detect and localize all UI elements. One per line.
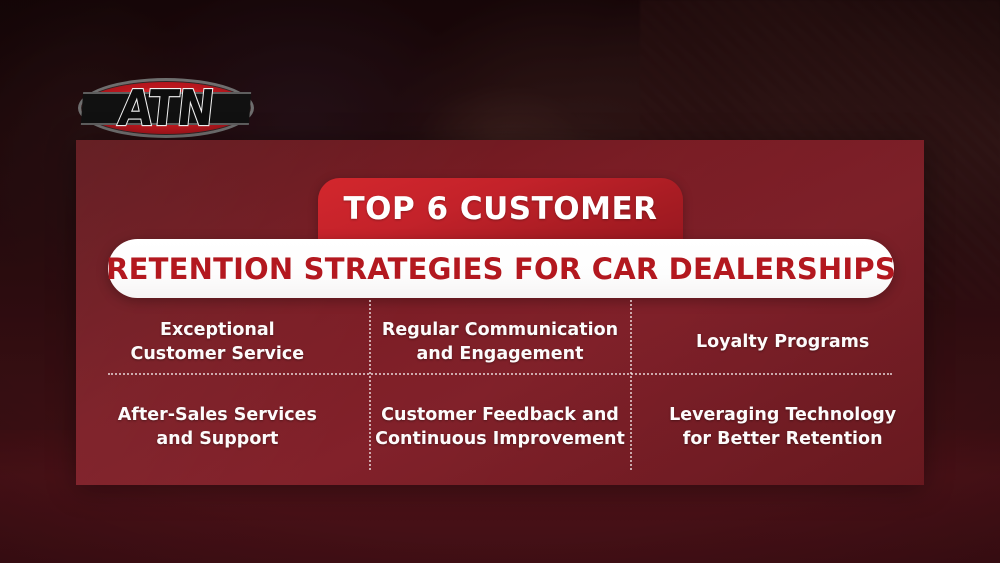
title-pill: TOP 6 CUSTOMER — [318, 178, 683, 240]
strategy-label-1-line2: Customer Service — [130, 344, 304, 364]
strategy-label-2-line2: and Engagement — [417, 344, 584, 364]
strategy-label-2-line1: Regular Communication — [382, 320, 618, 340]
strategy-label-5: Customer Feedback and Continuous Improve… — [375, 404, 625, 450]
subtitle-pill: RETENTION STRATEGIES FOR CAR DEALERSHIPS — [108, 239, 894, 298]
vertical-divider-2 — [630, 300, 632, 470]
strategy-label-4-line1: After-Sales Services — [118, 405, 317, 425]
logo-wordmark: ATN — [74, 74, 257, 141]
vertical-divider-1 — [369, 300, 371, 470]
strategy-grid: Exceptional Customer Service Regular Com… — [76, 300, 924, 470]
atn-logo: ATN — [78, 78, 254, 138]
horizontal-divider-1 — [108, 373, 892, 375]
strategy-label-6-line1: Leveraging Technology — [669, 405, 896, 425]
strategy-item-5: Customer Feedback and Continuous Improve… — [359, 385, 642, 470]
strategy-label-2: Regular Communication and Engagement — [382, 319, 618, 365]
strategy-label-1: Exceptional Customer Service — [130, 319, 304, 365]
strategy-item-6: Leveraging Technology for Better Retenti… — [641, 385, 924, 470]
strategy-label-3-line1: Loyalty Programs — [696, 332, 869, 352]
strategy-item-4: After-Sales Services and Support — [76, 385, 359, 470]
strategy-label-6-line2: for Better Retention — [683, 429, 883, 449]
page-title: TOP 6 CUSTOMER — [343, 191, 657, 227]
strategy-label-6: Leveraging Technology for Better Retenti… — [669, 404, 896, 450]
strategy-label-5-line1: Customer Feedback and — [381, 405, 619, 425]
strategy-label-4: After-Sales Services and Support — [118, 404, 317, 450]
strategy-label-1-line1: Exceptional — [160, 320, 275, 340]
page-subtitle: RETENTION STRATEGIES FOR CAR DEALERSHIPS — [106, 252, 896, 286]
strategy-label-3: Loyalty Programs — [696, 331, 869, 354]
strategy-label-4-line2: and Support — [156, 429, 278, 449]
strategy-label-5-line2: Continuous Improvement — [375, 429, 625, 449]
